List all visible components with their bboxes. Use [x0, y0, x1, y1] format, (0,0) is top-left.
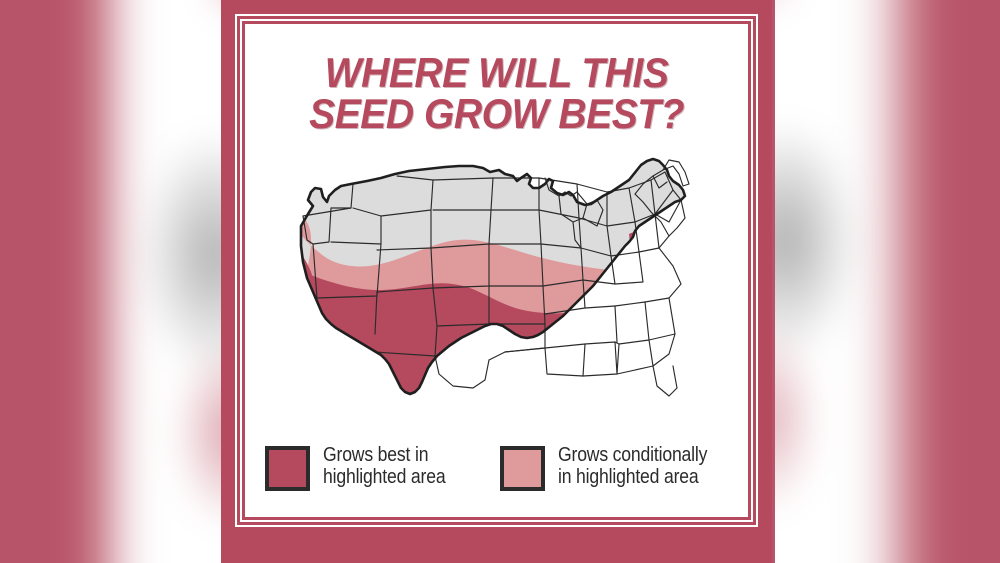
poster-card: WHERE WILL THIS SEED GROW BEST? — [221, 0, 772, 563]
blurred-background-right-inner — [768, 0, 1000, 563]
page-title-line-1: WHERE WILL THIS — [325, 49, 669, 96]
map-legend: Grows best in highlighted area Grows con… — [247, 444, 746, 491]
us-growing-zone-map — [277, 148, 717, 398]
us-map-svg — [277, 148, 717, 398]
page-title: WHERE WILL THIS SEED GROW BEST? — [309, 52, 684, 134]
legend-label-grows-conditionally: Grows conditionally in highlighted area — [558, 444, 707, 489]
blurred-background-left-inner — [0, 0, 232, 563]
blurred-background-right — [768, 0, 1000, 563]
legend-swatch-grows-conditionally — [500, 446, 545, 491]
screenshot-stage: WHERE WILL THIS SEED GROW BEST? — [0, 0, 1000, 563]
legend-item-grows-best: Grows best in highlighted area — [265, 444, 462, 491]
page-title-line-2: SEED GROW BEST? — [309, 93, 684, 134]
blurred-background-left — [0, 0, 232, 563]
poster-paper: WHERE WILL THIS SEED GROW BEST? — [247, 26, 746, 515]
legend-item-grows-conditionally: Grows conditionally in highlighted area — [500, 444, 728, 491]
legend-label-grows-best: Grows best in highlighted area — [323, 444, 445, 489]
legend-swatch-grows-best — [265, 446, 310, 491]
